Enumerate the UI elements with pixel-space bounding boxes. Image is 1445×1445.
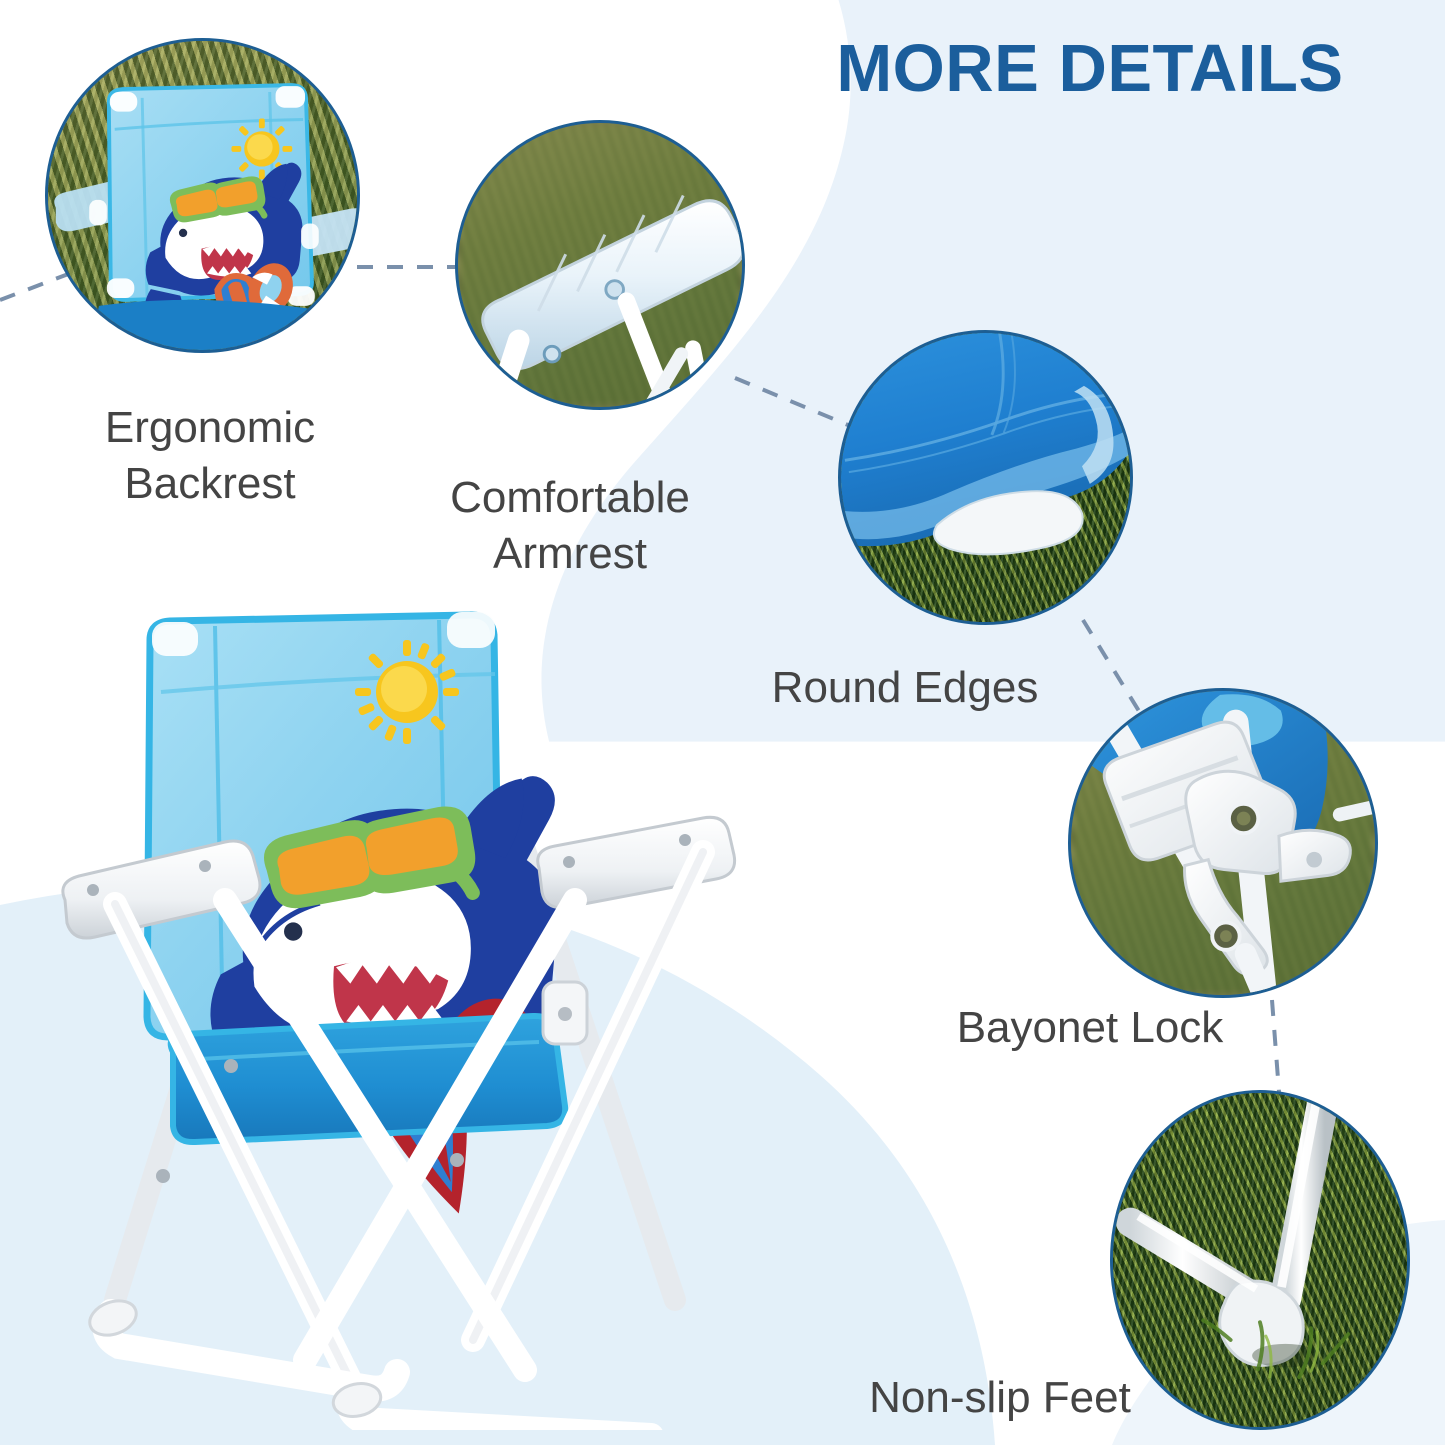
callout-circle-armrest[interactable] — [455, 120, 745, 410]
backrest-photo — [48, 41, 357, 350]
bayonet-lock-photo — [1071, 691, 1375, 995]
feature-label-backrest: Ergonomic Backrest — [30, 400, 390, 513]
feature-label-round-edges: Round Edges — [700, 660, 1110, 716]
feature-label-bayonet-lock: Bayonet Lock — [890, 1000, 1290, 1056]
callout-circle-backrest[interactable] — [45, 38, 360, 353]
round-edge-photo — [841, 333, 1130, 622]
feature-label-non-slip-feet: Non-slip Feet — [800, 1370, 1200, 1426]
armrest-photo — [458, 123, 742, 407]
infographic-canvas: MORE DETAILS — [0, 0, 1445, 1445]
page-title: MORE DETAILS — [760, 30, 1420, 107]
callout-circle-round-edges[interactable] — [838, 330, 1133, 625]
feature-label-armrest: Comfortable Armrest — [375, 470, 765, 583]
callout-circle-bayonet-lock[interactable] — [1068, 688, 1378, 998]
